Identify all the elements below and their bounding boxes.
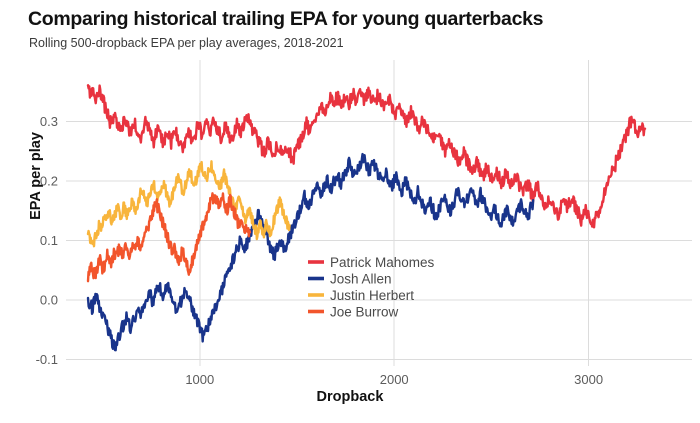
series-line-justin-herbert xyxy=(88,161,290,246)
legend-label: Josh Allen xyxy=(330,272,392,287)
legend-label: Patrick Mahomes xyxy=(330,255,435,270)
y-tick-labels: -0.10.00.10.20.3 xyxy=(36,114,58,367)
x-tick-label: 1000 xyxy=(185,372,214,387)
y-tick-label: -0.1 xyxy=(36,352,58,367)
series-line-patrick-mahomes xyxy=(88,85,645,227)
legend-label: Justin Herbert xyxy=(330,288,414,303)
x-tick-label: 3000 xyxy=(574,372,603,387)
x-tick-labels: 100020003000 xyxy=(185,372,603,387)
chart-figure: Comparing historical trailing EPA for yo… xyxy=(0,0,700,423)
y-tick-label: 0.1 xyxy=(40,233,58,248)
chart-legend: Patrick MahomesJosh AllenJustin HerbertJ… xyxy=(308,255,435,320)
y-tick-label: 0.3 xyxy=(40,114,58,129)
y-tick-label: 0.0 xyxy=(40,293,58,308)
x-tick-label: 2000 xyxy=(380,372,409,387)
y-tick-label: 0.2 xyxy=(40,174,58,189)
legend-label: Joe Burrow xyxy=(330,305,399,320)
plot-area: -0.10.00.10.20.3 100020003000 Patrick Ma… xyxy=(0,0,700,423)
